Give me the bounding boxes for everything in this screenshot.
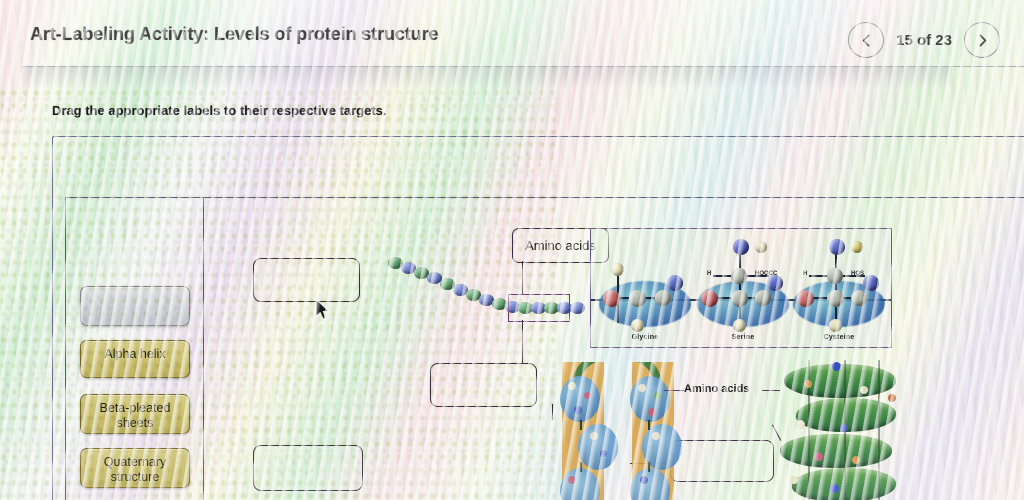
next-page-button[interactable]	[964, 22, 1000, 58]
draggable-label-quaternary-structure[interactable]: Quaternary structure	[80, 448, 190, 488]
drop-target-3[interactable]	[253, 445, 363, 491]
atom-label-side-chain: HOS	[851, 271, 864, 277]
atom-oxygen	[767, 275, 783, 291]
draggable-label-beta-pleated-sheets[interactable]: Beta-pleated sheets	[80, 394, 190, 434]
pagination-controls: 15 of 23	[848, 22, 1000, 58]
molecule-name-serine: Serine	[695, 334, 791, 341]
atom-carbon	[731, 268, 747, 284]
drop-target-1[interactable]	[253, 258, 360, 302]
alpha-helix-figure	[778, 360, 908, 500]
molecule-serine: H HOOCC Serine	[695, 235, 791, 343]
atom-nitrogen	[603, 290, 620, 307]
photographed-screen: · Art-Labeling Activity: Levels of prote…	[0, 0, 1024, 500]
atom-carbon	[629, 290, 646, 307]
amino-acid-model	[560, 376, 600, 422]
amino-acid-model	[578, 424, 618, 470]
atom-label-hydrogen: H	[707, 271, 711, 277]
beta-pleated-sheet-figure	[556, 362, 686, 500]
chevron-right-icon	[977, 34, 988, 47]
amino-acid-molecule-panel: Glycine H HOOCC Serine	[590, 228, 892, 348]
atom-label-side-chain: HOOCC	[755, 271, 777, 277]
atom-carbon	[731, 290, 748, 307]
atom-sulfur	[851, 241, 863, 253]
atom-hydrogen	[755, 241, 767, 253]
atom-hydrogen	[631, 319, 644, 332]
prev-page-button[interactable]	[848, 22, 884, 58]
atom-carbon	[851, 290, 867, 306]
atom-oxygen	[829, 239, 845, 255]
chevron-left-icon	[861, 34, 872, 47]
atom-oxygen	[667, 275, 683, 291]
drop-target-2[interactable]	[430, 363, 537, 407]
page-title: Art-Labeling Activity: Levels of protein…	[30, 24, 438, 45]
draggable-label-alpha-helix[interactable]: Alpha helix	[80, 340, 190, 378]
page-counter: 15 of 23	[896, 32, 952, 49]
atom-label-hydrogen: H	[803, 271, 807, 277]
molecule-cysteine: H HOS Cysteine	[791, 235, 887, 343]
atom-hydrogen	[733, 319, 746, 332]
atom-carbon	[655, 290, 671, 306]
annotation-leader-right	[762, 390, 780, 391]
atom-nitrogen	[797, 290, 814, 307]
atom-hydrogen	[611, 263, 624, 276]
mouse-cursor	[315, 298, 331, 322]
molecule-name-glycine: Glycine	[597, 334, 693, 341]
atom-oxygen	[863, 275, 879, 291]
atom-carbon	[827, 268, 843, 284]
atom-carbon	[827, 290, 844, 307]
molecule-glycine: Glycine	[597, 235, 693, 343]
draggable-label-blank[interactable]	[80, 286, 190, 326]
header-shadow	[22, 67, 952, 89]
annotation-leader-left	[664, 390, 684, 391]
atom-nitrogen	[701, 290, 718, 307]
leader-line-sheet	[552, 404, 553, 420]
clipped-top-text: ·	[470, 0, 473, 7]
activity-content: · Art-Labeling Activity: Levels of prote…	[0, 0, 1024, 500]
atom-carbon	[755, 290, 771, 306]
annotation-amino-acids: Amino acids	[684, 383, 749, 395]
atom-oxygen	[733, 239, 749, 255]
highlight-rectangle	[508, 294, 570, 322]
molecule-name-cysteine: Cysteine	[791, 334, 887, 341]
label-bank-divider	[203, 197, 204, 500]
atom-hydrogen	[829, 319, 842, 332]
instruction-text: Drag the appropriate labels to their res…	[52, 103, 387, 118]
